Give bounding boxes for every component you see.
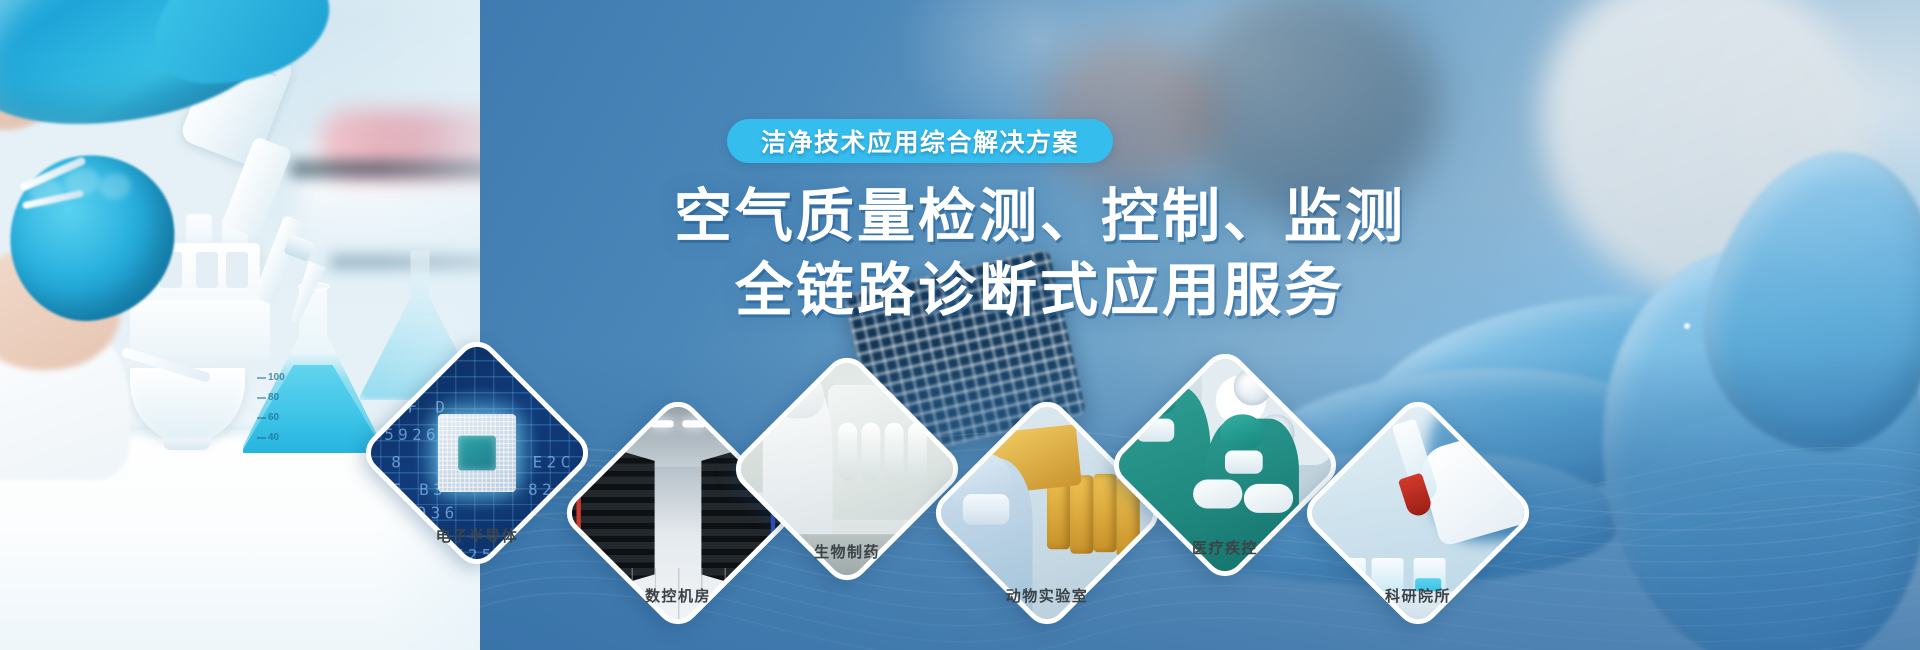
industry-card-medical[interactable]: 医疗疾控 (1140, 380, 1310, 550)
surgical-mask (1225, 451, 1263, 474)
industry-card-label: 电子半导体 (436, 525, 519, 546)
worker-hood (773, 372, 824, 418)
machine-roller (884, 423, 903, 481)
industry-card-research[interactable]: 科研院所 (1333, 428, 1503, 598)
surgical-glove (1244, 484, 1293, 513)
industry-card-label: 数控机房 (645, 585, 711, 606)
lamp-dome (1280, 372, 1318, 410)
surgical-cap (1220, 414, 1264, 449)
industry-card-label: 科研院所 (1385, 585, 1451, 606)
surgical-glove (1193, 479, 1242, 508)
machine-roller (861, 423, 880, 481)
industry-card-datacenter[interactable]: 数控机房 (593, 428, 763, 598)
industry-card-label: 医疗疾控 (1192, 537, 1258, 558)
animal-cage (1093, 474, 1116, 552)
chip-core (458, 436, 496, 471)
surgical-mask (1137, 419, 1175, 442)
industry-card-row: CA E2 F D 5926 7 8 0 E B3 7 5936 B8 C A … (0, 0, 1920, 650)
ceiling-light (650, 420, 673, 427)
surgical-cap (1132, 381, 1176, 416)
ceiling-light (683, 420, 706, 427)
hero-banner: 100 80 60 40 (0, 0, 1920, 650)
industry-card-semiconductor[interactable]: CA E2 F D 5926 7 8 0 E B3 7 5936 B8 C A … (392, 368, 562, 538)
animal-cage (1070, 476, 1093, 554)
machine-roller (907, 423, 926, 481)
industry-card-animal-lab[interactable]: 动物实验室 (962, 428, 1132, 598)
lamp-dome (1234, 368, 1272, 406)
industry-card-label: 生物制药 (814, 541, 880, 562)
industry-card-biopharma[interactable]: 生物制药 (762, 384, 932, 554)
industry-card-label: 动物实验室 (1006, 585, 1089, 606)
beaker (1334, 558, 1366, 602)
technician-mask (963, 494, 1009, 524)
machine-roller (838, 423, 857, 481)
